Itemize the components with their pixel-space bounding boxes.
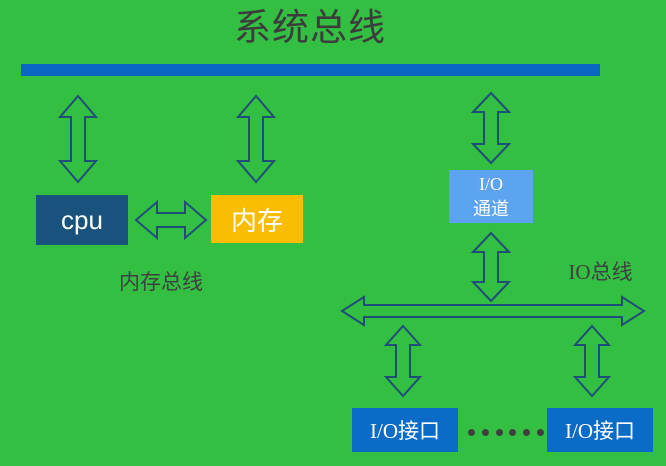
io-interface-left-box: I/O接口 xyxy=(352,408,458,452)
arrow-cpu-to-system-bus xyxy=(56,94,100,184)
memory-box: 内存 xyxy=(211,195,303,243)
ellipsis-dot xyxy=(509,429,516,436)
cpu-box: cpu xyxy=(36,195,128,245)
io-interface-right-box: I/O接口 xyxy=(547,408,653,452)
arrow-io-channel-to-system-bus xyxy=(469,91,513,165)
ellipsis-dots xyxy=(468,424,544,440)
diagram-canvas: 系统总线 cpu 内存 内存总线 I/O 通道 IO总线 xyxy=(0,0,666,466)
ellipsis-dot xyxy=(523,429,530,436)
ellipsis-dot xyxy=(468,429,475,436)
io-channel-label-line1: I/O xyxy=(479,172,503,197)
arrow-cpu-to-memory xyxy=(134,198,208,242)
ellipsis-dot xyxy=(482,429,489,436)
system-bus-bar xyxy=(21,64,600,76)
io-bus-caption: IO总线 xyxy=(548,256,653,286)
io-channel-label-line2: 通道 xyxy=(473,197,509,222)
io-interface-right-label: I/O接口 xyxy=(565,415,635,445)
io-channel-box: I/O 通道 xyxy=(449,170,533,223)
arrow-io-bus-to-io-interface-left xyxy=(383,324,423,398)
page-title: 系统总线 xyxy=(0,6,620,52)
memory-bus-caption: 内存总线 xyxy=(106,266,216,296)
ellipsis-dot xyxy=(537,429,544,436)
io-bus-arrow xyxy=(340,294,646,328)
memory-label: 内存 xyxy=(231,201,283,238)
io-interface-left-label: I/O接口 xyxy=(370,415,440,445)
arrow-io-channel-to-io-bus xyxy=(469,231,513,303)
ellipsis-dot xyxy=(496,429,503,436)
cpu-label: cpu xyxy=(61,205,103,236)
arrow-memory-to-system-bus xyxy=(234,94,278,184)
arrow-io-bus-to-io-interface-right xyxy=(572,324,612,398)
